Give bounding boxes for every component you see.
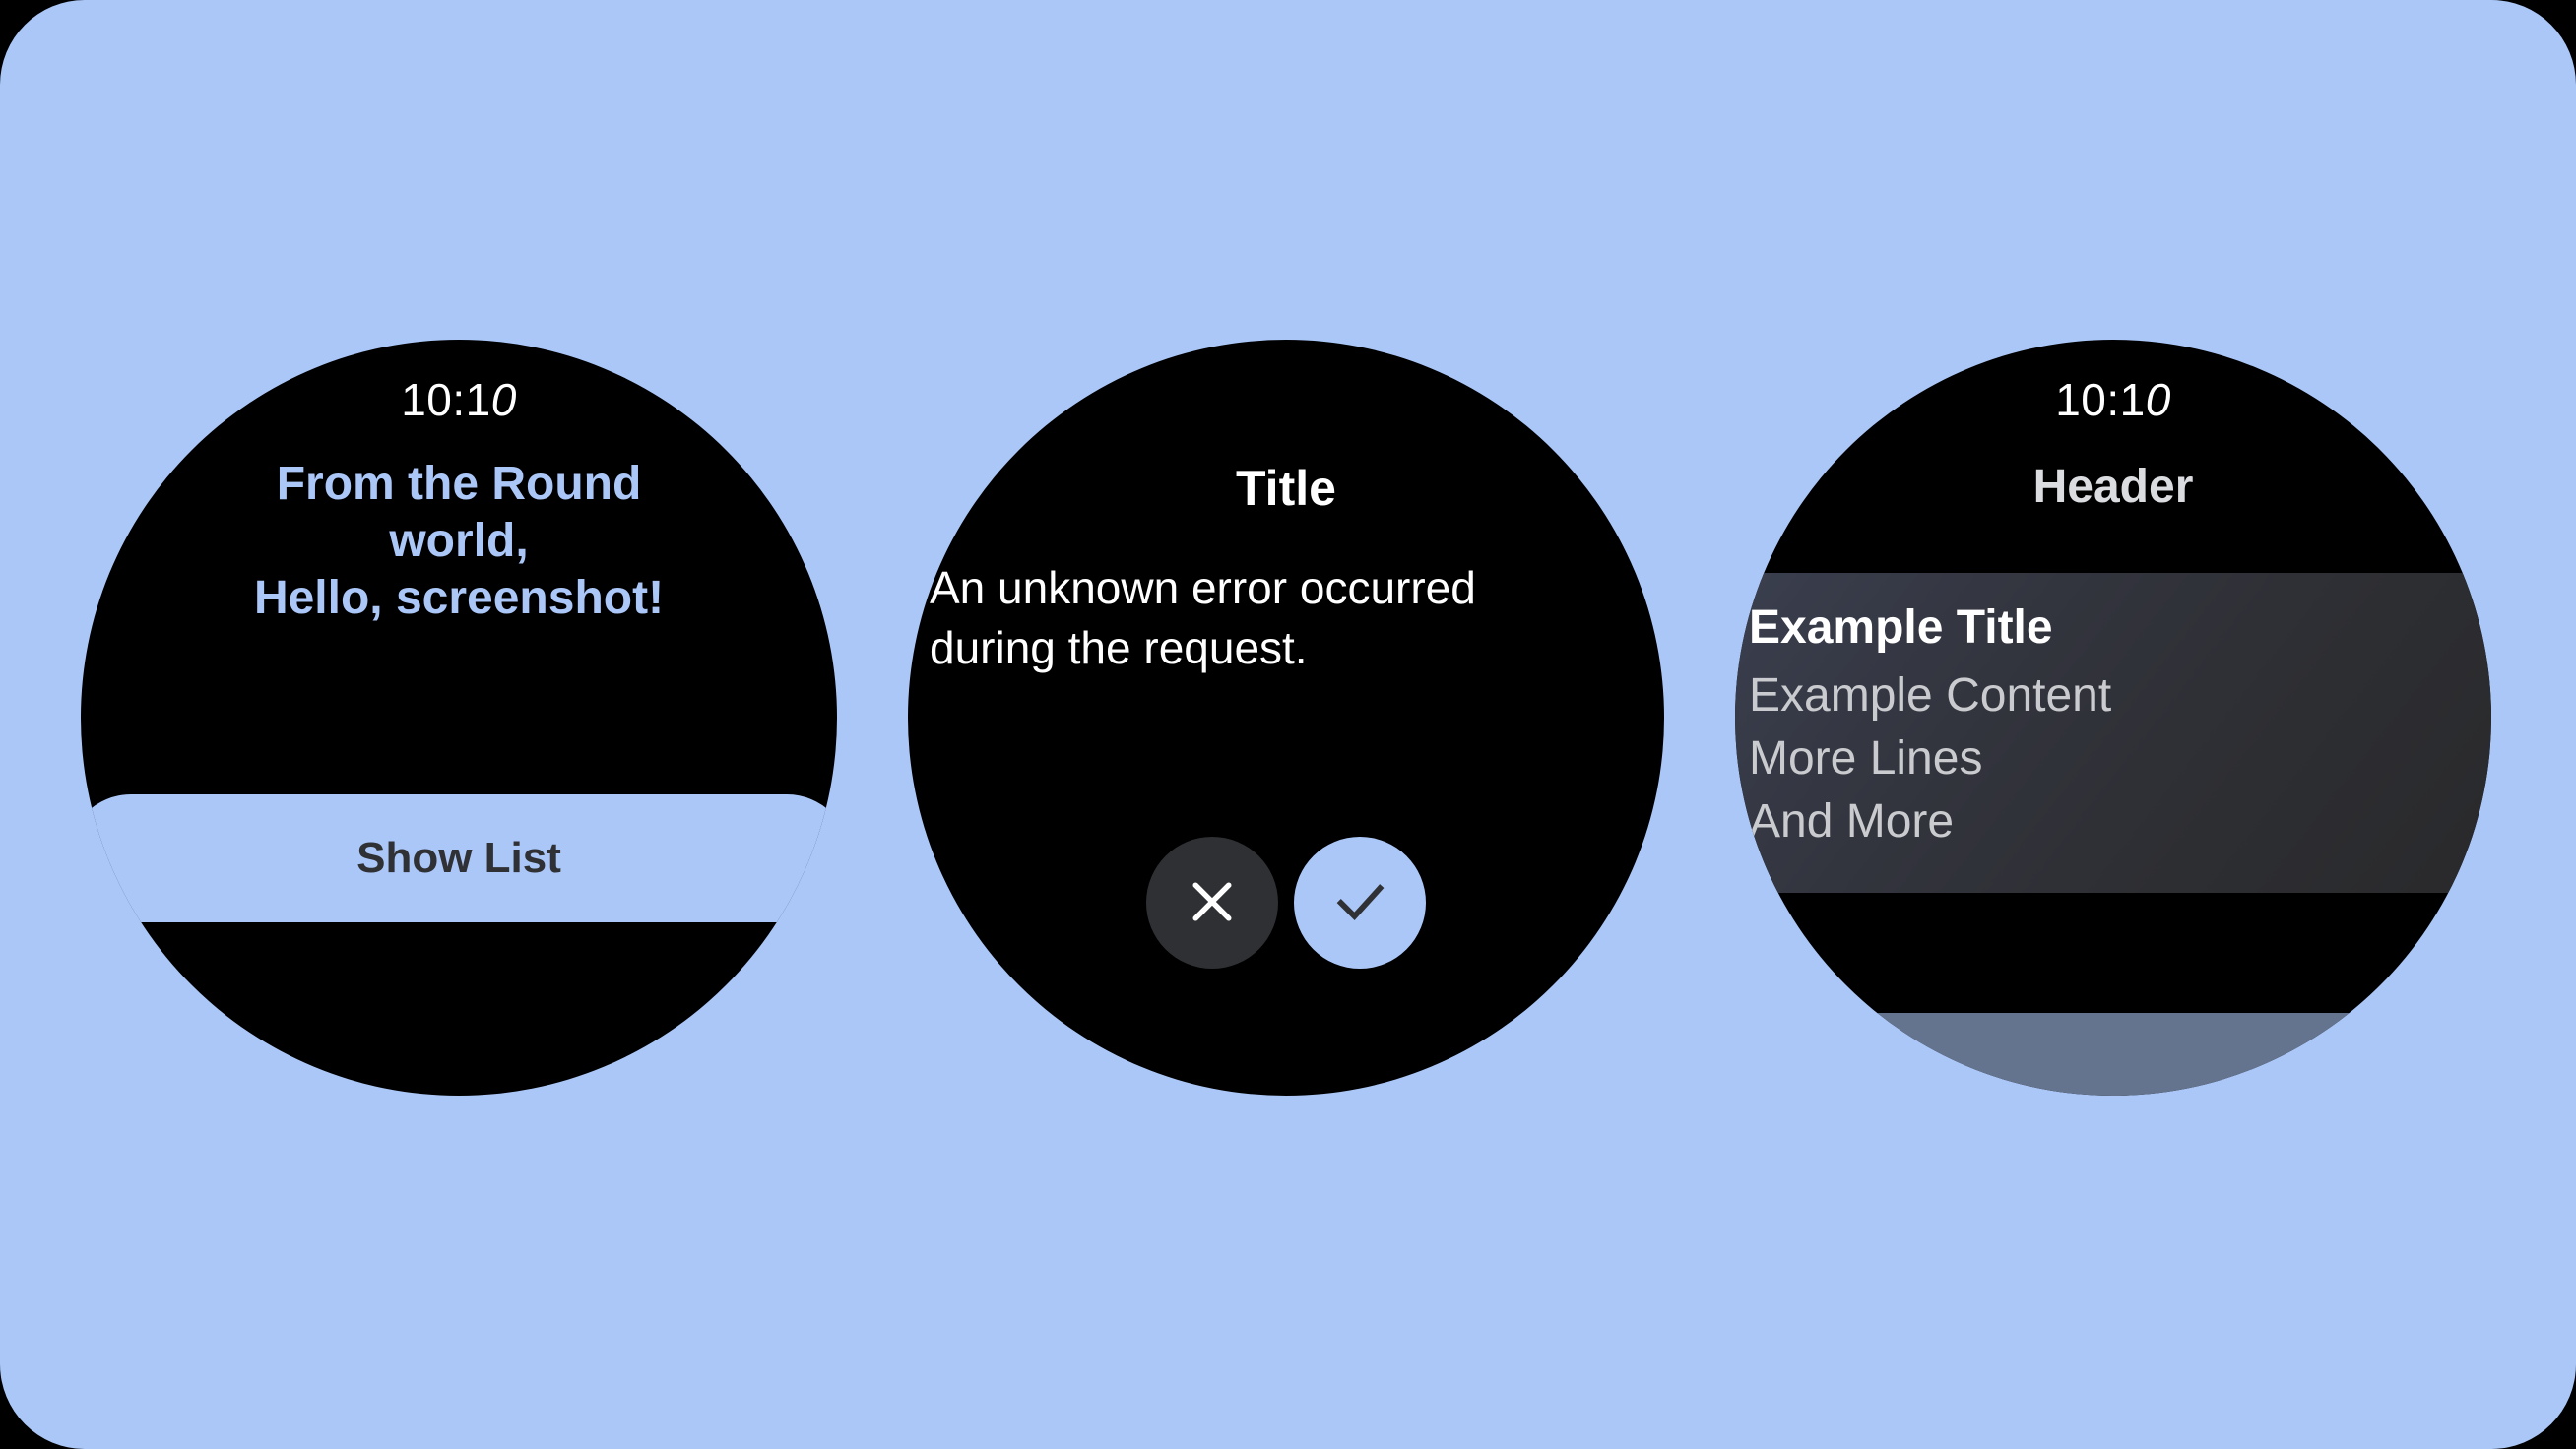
dismiss-button[interactable]: [1146, 837, 1278, 969]
close-icon: [1182, 871, 1243, 935]
screenshot-canvas: 10:10 From the Round world, Hello, scree…: [0, 0, 2576, 1449]
page-title: Header: [1735, 460, 2491, 514]
dialog-message: An unknown error occurred during the req…: [930, 558, 1642, 677]
card-line: And More: [1749, 798, 2478, 846]
watch-face-list-card: 10:10 Header Example Title Example Conte…: [1735, 340, 2491, 1096]
card-line: Example Content: [1749, 672, 2478, 720]
confirm-button[interactable]: [1294, 837, 1426, 969]
status-time: 10:10: [1735, 373, 2491, 426]
card-line: More Lines: [1749, 735, 2478, 783]
status-time-head: 10:1: [2055, 374, 2146, 425]
status-time-head: 10:1: [401, 374, 491, 425]
dialog-message-line-1: An unknown error occurred: [930, 558, 1642, 618]
dialog-message-line-2: during the request.: [930, 618, 1642, 678]
status-time-tail: 0: [491, 374, 517, 425]
list-item[interactable]: Example Title Example Content More Lines…: [1735, 573, 2491, 893]
check-icon: [1327, 869, 1392, 937]
greeting-text: From the Round world, Hello, screenshot!: [136, 456, 782, 627]
dialog-title: Title: [908, 460, 1664, 517]
greeting-line-1: From the Round: [136, 456, 782, 513]
greeting-line-3: Hello, screenshot!: [136, 570, 782, 627]
card-title: Example Title: [1749, 600, 2478, 657]
status-time: 10:10: [81, 373, 837, 426]
bottom-bar: [1735, 1013, 2491, 1096]
watch-face-alert-dialog: Title An unknown error occurred during t…: [908, 340, 1664, 1096]
greeting-line-2: world,: [136, 513, 782, 570]
status-time-tail: 0: [2146, 374, 2171, 425]
show-list-button[interactable]: Show List: [81, 794, 837, 922]
watch-face-greeting: 10:10 From the Round world, Hello, scree…: [81, 340, 837, 1096]
dialog-actions: [908, 837, 1664, 969]
